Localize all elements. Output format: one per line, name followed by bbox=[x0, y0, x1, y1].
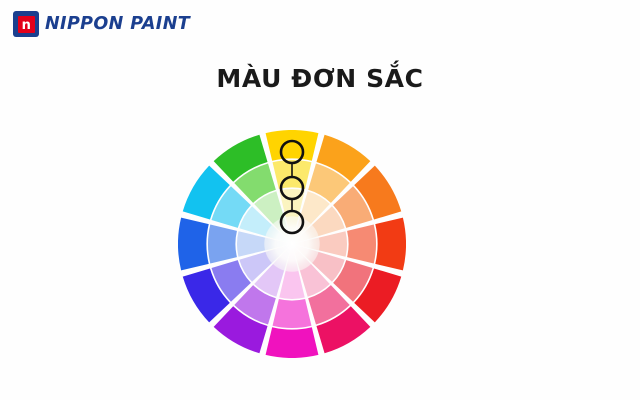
wheel-hub-highlight bbox=[264, 216, 320, 272]
wheel-segment-red-orange-outer[interactable] bbox=[375, 218, 406, 271]
color-wheel-container bbox=[178, 130, 406, 358]
nippon-paint-logo-mark-icon: n bbox=[14, 12, 38, 36]
wheel-segment-blue-outer[interactable] bbox=[178, 218, 209, 271]
wheel-segment-red-orange-inner[interactable] bbox=[319, 231, 347, 256]
wheel-segment-magenta-inner[interactable] bbox=[279, 271, 304, 299]
wheel-segment-red-orange-mid[interactable] bbox=[347, 225, 376, 264]
wheel-segment-magenta-mid[interactable] bbox=[273, 299, 312, 328]
brand-logo: n NIPPON PAINT bbox=[14, 12, 190, 36]
page-title: MÀU ĐƠN SẮC bbox=[0, 64, 640, 93]
color-wheel-hub bbox=[264, 216, 320, 272]
logo-mark-glyph: n bbox=[22, 18, 31, 33]
brand-wordmark: NIPPON PAINT bbox=[45, 14, 190, 34]
wheel-segment-magenta-outer[interactable] bbox=[266, 327, 319, 358]
wheel-segment-blue-inner[interactable] bbox=[237, 231, 265, 256]
monochromatic-color-wheel[interactable] bbox=[178, 130, 406, 358]
wheel-segment-yellow-outer[interactable] bbox=[266, 130, 319, 161]
wheel-segment-blue-mid[interactable] bbox=[208, 225, 237, 264]
logo-mark-inner: n bbox=[18, 16, 35, 33]
